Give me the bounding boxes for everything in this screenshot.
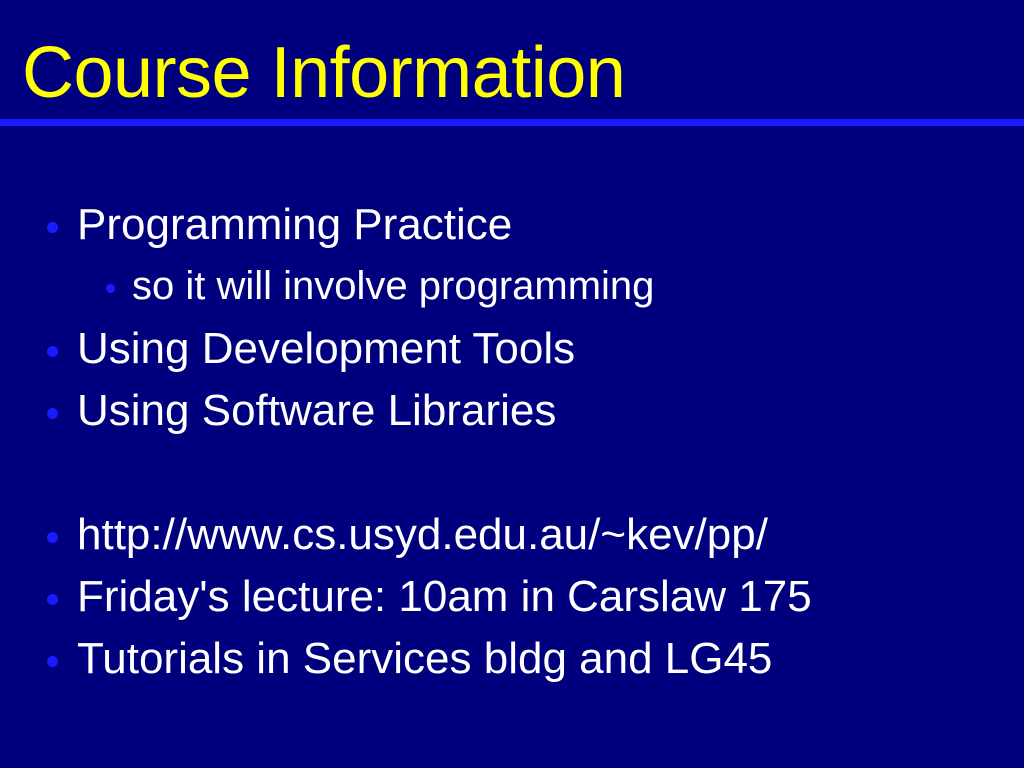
list-item-label: Programming Practice — [77, 196, 512, 253]
bullet-dot-icon — [47, 346, 58, 357]
list-item-label: Tutorials in Services bldg and LG45 — [77, 630, 772, 687]
page-title: Course Information — [22, 36, 625, 110]
bullet-dot-icon — [47, 222, 58, 233]
list-item: Using Development Tools — [0, 320, 1024, 382]
bullet-dot-icon — [47, 408, 58, 419]
list-item-label: Using Software Libraries — [77, 382, 556, 439]
list-item-url[interactable]: http://www.cs.usyd.edu.au/~kev/pp/ — [0, 506, 1024, 568]
list-item: Friday's lecture: 10am in Carslaw 175 — [0, 568, 1024, 630]
bullet-dot-icon — [47, 656, 58, 667]
bullet-dot-icon — [47, 594, 58, 605]
course-website-url: http://www.cs.usyd.edu.au/~kev/pp/ — [77, 506, 768, 563]
list-item-label: so it will involve programming — [132, 258, 654, 315]
slide-body: Programming Practice so it will involve … — [0, 196, 1024, 692]
presentation-slide: Course Information Programming Practice … — [0, 0, 1024, 768]
list-item: so it will involve programming — [0, 258, 1024, 320]
blank-line — [0, 444, 1024, 506]
bullet-dot-icon — [106, 284, 115, 293]
list-item: Using Software Libraries — [0, 382, 1024, 444]
slide-title-block: Course Information — [0, 0, 1024, 126]
bullet-dot-icon — [47, 532, 58, 543]
list-item-label: Friday's lecture: 10am in Carslaw 175 — [77, 568, 812, 625]
list-item-label: Using Development Tools — [77, 320, 575, 377]
list-item: Tutorials in Services bldg and LG45 — [0, 630, 1024, 692]
list-item: Programming Practice — [0, 196, 1024, 258]
title-divider — [0, 119, 1024, 126]
